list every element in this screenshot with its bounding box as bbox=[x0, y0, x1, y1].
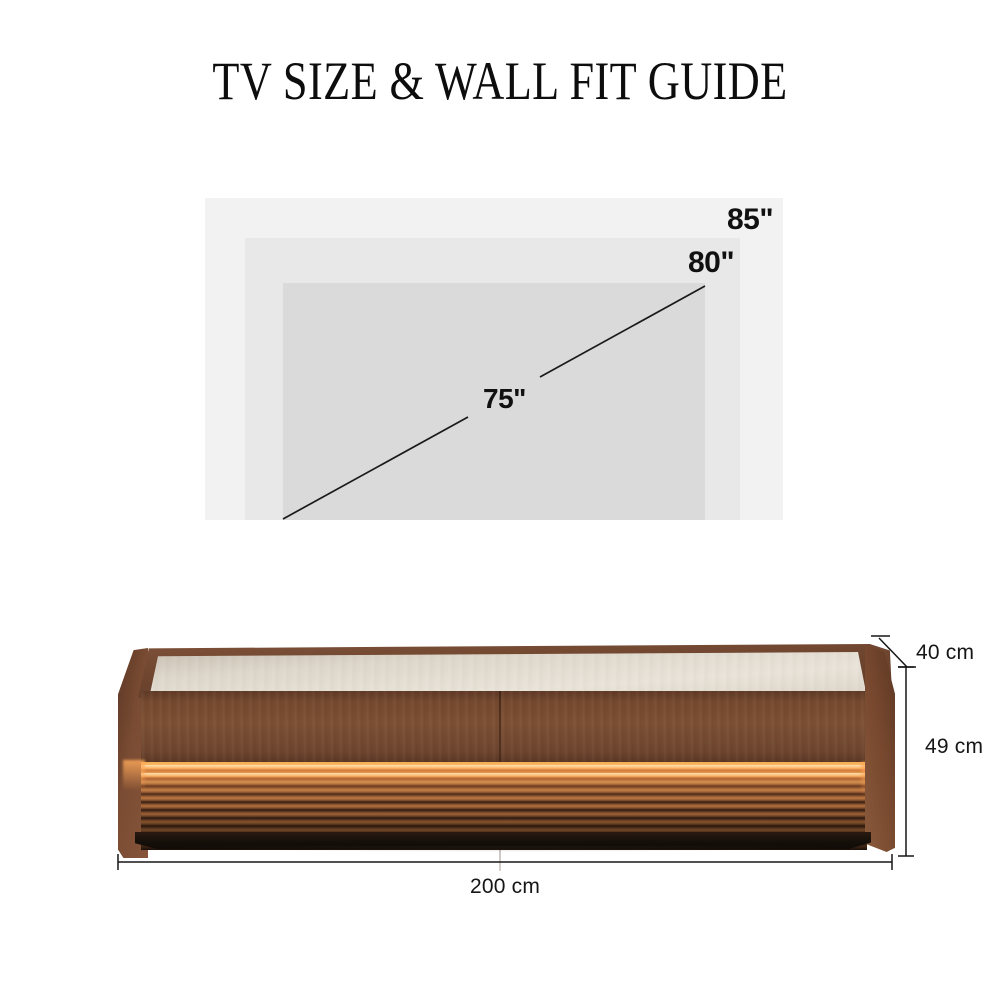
dimension-label-height: 49 cm bbox=[925, 735, 983, 759]
tv-size-diagram: 85" 80" 75" bbox=[0, 0, 1000, 560]
dimension-label-depth: 40 cm bbox=[916, 641, 974, 665]
dimension-label-width: 200 cm bbox=[470, 875, 540, 899]
width-dimension-line bbox=[118, 854, 892, 870]
led-glow-bleed-left bbox=[123, 760, 145, 790]
console-floor-shadow bbox=[143, 846, 863, 852]
tv-size-label-75: 75" bbox=[478, 382, 531, 416]
tv-size-label-80: 80" bbox=[688, 246, 734, 280]
tv-size-label-85: 85" bbox=[727, 203, 773, 237]
console-stone-top-surface bbox=[139, 652, 869, 694]
tv-console-illustration bbox=[113, 636, 903, 856]
console-drawer-fronts bbox=[141, 691, 867, 762]
led-highlight-ribs bbox=[141, 765, 867, 779]
